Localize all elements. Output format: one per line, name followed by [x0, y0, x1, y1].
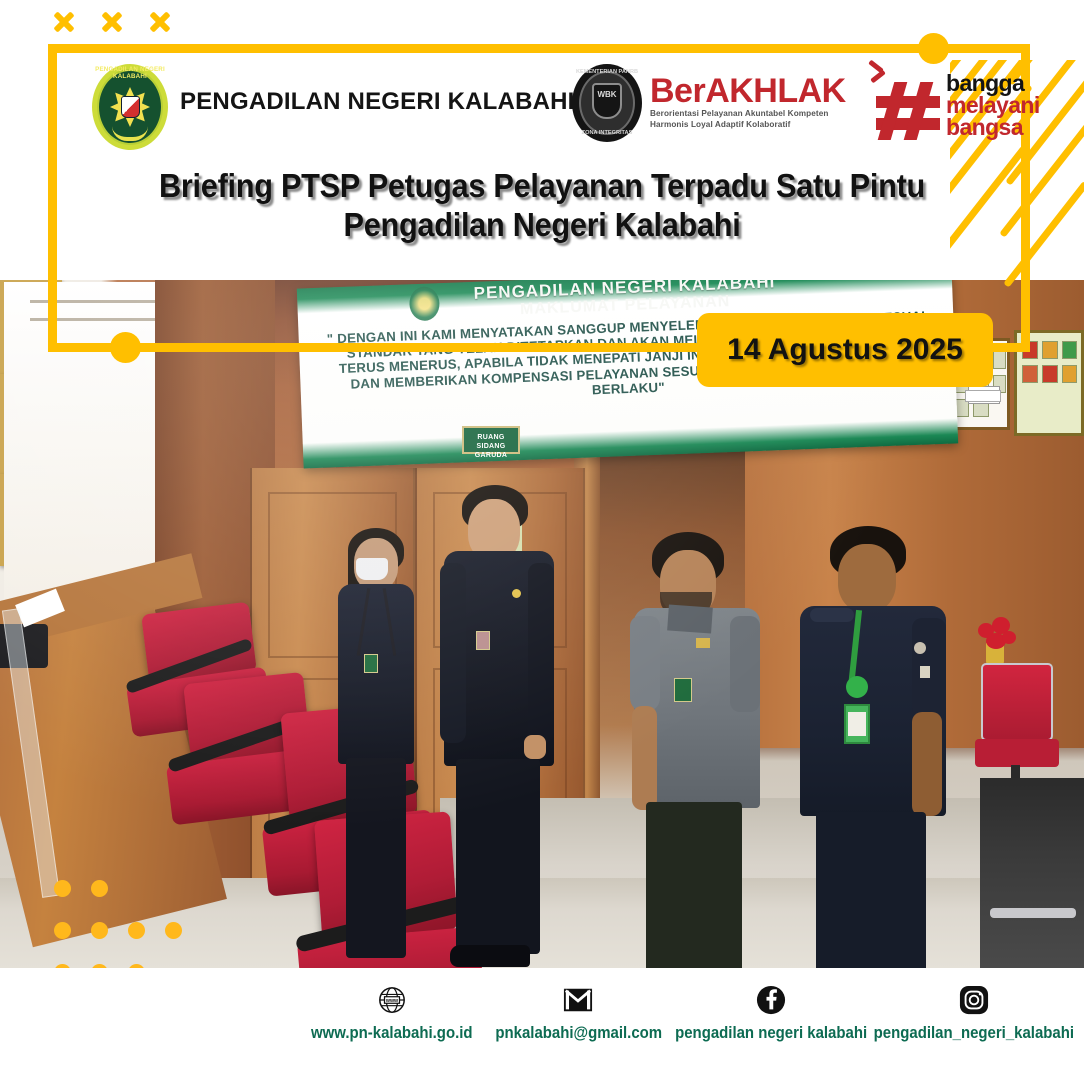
- frame-dot-top-right: [918, 33, 949, 64]
- berakhlak-tagline-2: Harmonis Loyal Adaptif Kolaboratif: [650, 119, 850, 130]
- gmail-icon: [563, 982, 593, 1018]
- x-mark-icon: [146, 8, 172, 34]
- frame-dot-bottom-left: [110, 332, 141, 363]
- globe-icon: www: [377, 982, 407, 1018]
- bangga-melayani-logo: bangga melayani bangsa: [880, 68, 1070, 146]
- photo-flower-vase: [968, 613, 1024, 667]
- photo-door-label: [965, 390, 1001, 402]
- contact-list: www www.pn-kalabahi.go.id pnkalabahi@gma…: [300, 982, 1060, 1072]
- room-sign-line-2: SIDANG GARUDA: [464, 442, 518, 460]
- court-crest-icon: PENGADILAN NEGERI KALABAHI: [92, 64, 168, 150]
- facebook-icon: [756, 982, 786, 1018]
- event-date-text: 14 Agustus 2025: [727, 333, 963, 367]
- svg-text:www: www: [385, 998, 399, 1004]
- logo-row: PENGADILAN NEGERI KALABAHI PENGADILAN NE…: [80, 62, 980, 147]
- photo-person-1: [332, 528, 422, 968]
- seal-bottom-text: ZONA INTEGRITAS: [572, 130, 642, 136]
- organization-name: PENGADILAN NEGERI KALABAHI: [180, 88, 575, 116]
- photo-person-2: [440, 483, 560, 968]
- photo-waiting-bench: [980, 778, 1084, 968]
- berakhlak-wordmark: BerAKHLAK: [650, 74, 850, 108]
- seal-top-text: KEMENTERIAN PANRB: [572, 69, 642, 75]
- berakhlak-tagline-1: Berorientasi Pelayanan Akuntabel Kompete…: [650, 108, 850, 119]
- kemenpanrb-seal-icon: KEMENTERIAN PANRB WBK ZONA INTEGRITAS: [572, 64, 642, 142]
- berakhlak-logo: BerAKHLAK Berorientasi Pelayanan Akuntab…: [650, 74, 850, 130]
- footer-bar: www www.pn-kalabahi.go.id pnkalabahi@gma…: [0, 968, 1084, 1086]
- bangga-line-3: bangsa: [946, 116, 1023, 139]
- instagram-icon: [959, 982, 989, 1018]
- contact-email-label: pnkalabahi@gmail.com: [495, 1023, 662, 1043]
- poster-title: Briefing PTSP Petugas Pelayanan Terpadu …: [94, 166, 991, 244]
- title-line-2: Pengadilan Negeri Kalabahi: [94, 205, 991, 244]
- room-sign: RUANG SIDANG GARUDA: [462, 426, 520, 454]
- arrow-icon: [868, 64, 890, 86]
- seal-center-text: WBK: [594, 90, 620, 99]
- x-mark-row: [50, 8, 180, 40]
- frame-border-top: [48, 44, 1030, 53]
- x-mark-icon: [50, 8, 76, 34]
- contact-facebook[interactable]: pengadilan negeri kalabahi: [673, 982, 869, 1072]
- contact-instagram-label: pengadilan_negeri_kalabahi: [874, 1023, 1074, 1043]
- x-mark-icon: [98, 8, 124, 34]
- frame-border-left: [48, 44, 57, 352]
- room-sign-line-1: RUANG: [464, 433, 518, 442]
- contact-email[interactable]: pnkalabahi@gmail.com: [484, 982, 673, 1072]
- event-date-badge: 14 Agustus 2025: [697, 313, 993, 387]
- photo-person-3: [630, 530, 765, 968]
- hashtag-icon: [880, 82, 944, 140]
- crest-ring-text: PENGADILAN NEGERI KALABAHI: [92, 66, 168, 80]
- photo-certificate-frame: [0, 474, 58, 566]
- title-line-1: Briefing PTSP Petugas Pelayanan Terpadu …: [94, 166, 991, 205]
- contact-facebook-label: pengadilan negeri kalabahi: [675, 1023, 867, 1043]
- contact-website-label: www.pn-kalabahi.go.id: [311, 1023, 473, 1043]
- contact-website[interactable]: www www.pn-kalabahi.go.id: [300, 982, 484, 1072]
- contact-instagram[interactable]: pengadilan_negeri_kalabahi: [869, 982, 1079, 1072]
- photo-person-4: [800, 526, 950, 968]
- poster-canvas: PENGADILAN NEGERI KALABAHI MAKLUMAT PELA…: [0, 0, 1084, 1086]
